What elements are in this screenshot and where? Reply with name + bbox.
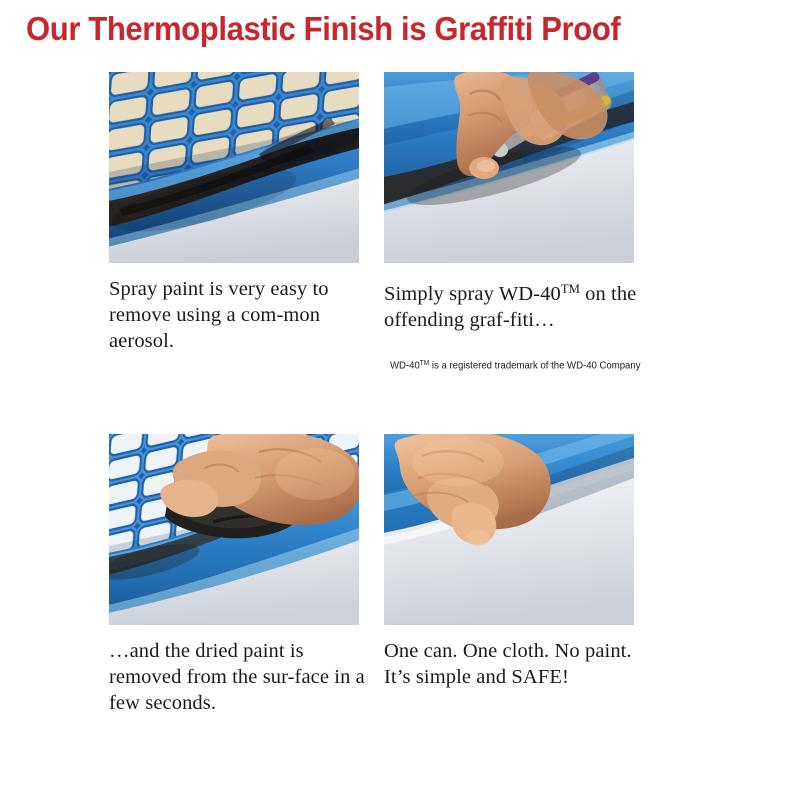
caption-apply-wd40-text1: Simply spray WD-40 (384, 283, 561, 305)
panel-clean-result: One can. One cloth. No paint. It’s simpl… (384, 434, 634, 690)
trademark-note-text2: is a registered trademark of the WD-40 C… (429, 361, 640, 372)
panel-apply-wd40: Simply spray WD-40TM on the offending gr… (384, 72, 634, 333)
panel-wipe-away: …and the dried paint is removed from the… (109, 434, 359, 716)
caption-wipe-away: …and the dried paint is removed from the… (109, 638, 367, 716)
wd40-trademark-superscript: TM (561, 282, 580, 296)
hand-wiping-paint-with-cloth-photo (109, 434, 359, 625)
page-title: Our Thermoplastic Finish is Graffiti Pro… (26, 8, 684, 50)
caption-spray-paint-damage: Spray paint is very easy to remove using… (109, 276, 367, 354)
trademark-note-superscript: TM (420, 360, 429, 367)
clean-blue-table-edge-photo (384, 434, 634, 625)
trademark-note-text1: WD-40 (390, 361, 420, 372)
panel-spray-paint-damage: Spray paint is very easy to remove using… (109, 72, 359, 354)
hand-spraying-wd40-on-graffiti-photo (384, 72, 634, 263)
caption-clean-result: One can. One cloth. No paint. It’s simpl… (384, 638, 642, 690)
caption-apply-wd40: Simply spray WD-40TM on the offending gr… (384, 276, 642, 333)
blue-mesh-table-with-black-spray-paint-photo (109, 72, 359, 263)
wd40-trademark-note: WD-40TM is a registered trademark of the… (390, 357, 632, 373)
